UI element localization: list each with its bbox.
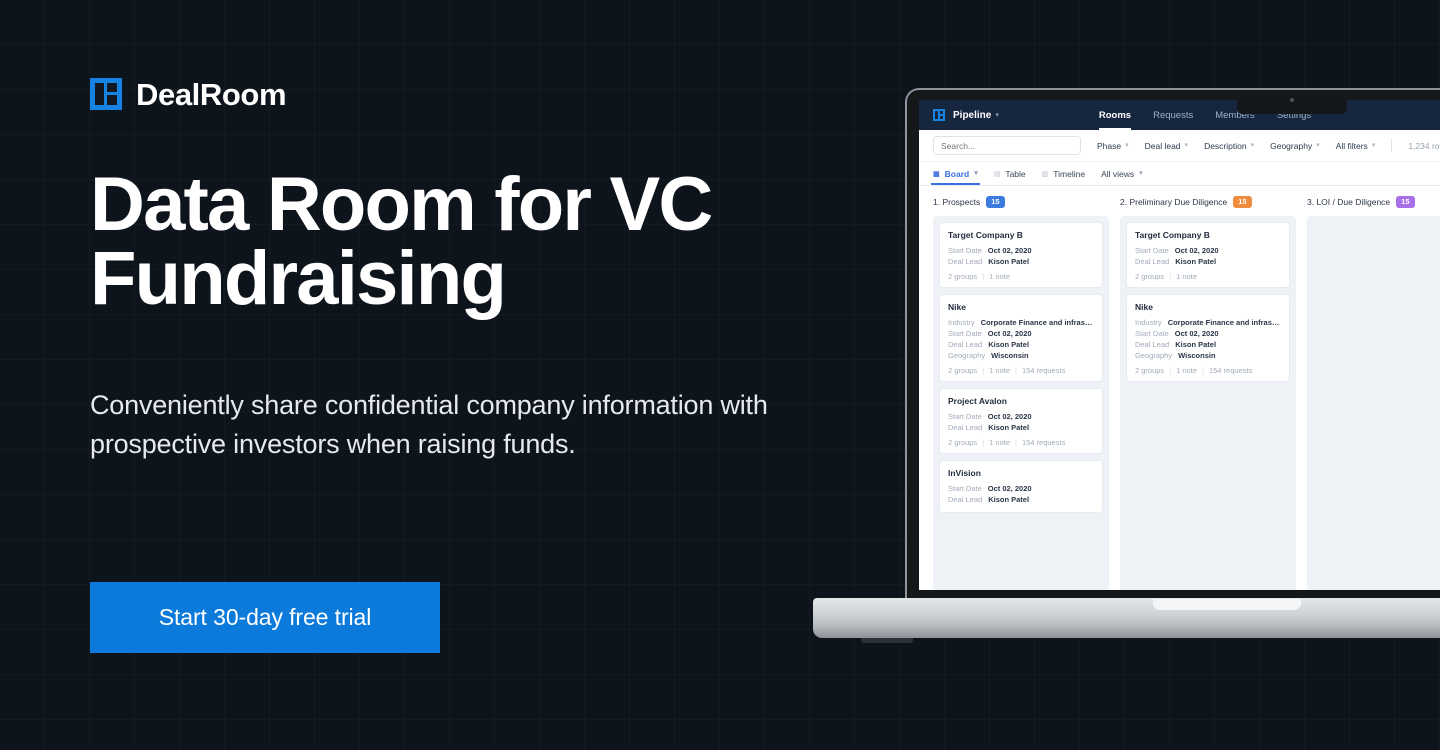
field-value: Wisconsin xyxy=(1178,351,1215,360)
deal-card-meta: 2 groups xyxy=(948,272,977,281)
deal-card-field: GeographyWisconsin xyxy=(948,351,1094,360)
deal-card-meta: 154 requests xyxy=(1022,438,1065,447)
deal-card-meta: 154 requests xyxy=(1022,366,1065,375)
field-label: Deal Lead xyxy=(948,257,982,266)
deal-card[interactable]: NikeIndustryCorporate Finance and infras… xyxy=(1126,294,1290,382)
tab-board[interactable]: ▦ Board ▾ xyxy=(933,162,978,185)
filter-deal-lead-label: Deal lead xyxy=(1145,141,1181,151)
field-label: Geography xyxy=(1135,351,1172,360)
brand-name: DealRoom xyxy=(136,79,286,110)
field-value: Oct 02, 2020 xyxy=(1175,246,1219,255)
deal-card-field: Start DateOct 02, 2020 xyxy=(1135,246,1281,255)
column-title: 3. LOI / Due Diligence xyxy=(1307,197,1390,207)
dealroom-logo-icon xyxy=(933,109,945,121)
laptop-lid: Pipeline ▾ Rooms Requests Members Settin… xyxy=(905,88,1440,598)
field-value: Oct 02, 2020 xyxy=(988,412,1032,421)
kanban-board: 1. Prospects15Target Company BStart Date… xyxy=(919,186,1440,590)
deal-card[interactable]: Project AvalonStart DateOct 02, 2020Deal… xyxy=(939,388,1103,454)
filter-description-label: Description xyxy=(1204,141,1247,151)
deal-card-field: Start DateOct 02, 2020 xyxy=(948,412,1094,421)
tab-board-label: Board xyxy=(945,169,970,179)
room-count: 1,234 rooms xyxy=(1408,141,1440,151)
field-label: Deal Lead xyxy=(1135,257,1169,266)
field-label: Start Date xyxy=(948,484,982,493)
deal-card-meta: 154 requests xyxy=(1209,366,1252,375)
hero-section: DealRoom Data Room for VC Fundraising Co… xyxy=(90,0,870,750)
column-card-list: Target Company BStart DateOct 02, 2020De… xyxy=(933,216,1109,590)
deal-card-title: Nike xyxy=(1135,302,1281,312)
filter-description[interactable]: Description ▾ xyxy=(1204,141,1254,151)
deal-card-title: Nike xyxy=(948,302,1094,312)
deal-card-field: Deal LeadKison Patel xyxy=(948,257,1094,266)
column-count-badge: 15 xyxy=(1233,196,1251,208)
dealroom-logo-icon xyxy=(90,78,122,110)
filter-bar: Phase ▾ Deal lead ▾ Description ▾ Geogra… xyxy=(919,130,1440,162)
deal-card-meta: 2 groups xyxy=(948,366,977,375)
chevron-down-icon: ▾ xyxy=(1139,170,1143,177)
tab-timeline-label: Timeline xyxy=(1053,169,1085,179)
deal-card-footer: 2 groups|1 note|154 requests xyxy=(948,366,1094,375)
column-count-badge: 15 xyxy=(986,196,1004,208)
deal-card-field: GeographyWisconsin xyxy=(1135,351,1281,360)
filter-deal-lead[interactable]: Deal lead ▾ xyxy=(1145,141,1188,151)
field-value: Kison Patel xyxy=(988,423,1029,432)
field-label: Deal Lead xyxy=(948,423,982,432)
field-value: Kison Patel xyxy=(1175,257,1216,266)
laptop-notch xyxy=(1237,90,1347,114)
filter-phase-label: Phase xyxy=(1097,141,1121,151)
field-label: Industry xyxy=(1135,318,1162,327)
tab-all-views[interactable]: All views ▾ xyxy=(1101,162,1143,185)
column-header: 1. Prospects15 xyxy=(933,195,1109,209)
chevron-down-icon: ▾ xyxy=(1251,142,1255,149)
field-label: Start Date xyxy=(1135,246,1169,255)
search-input[interactable] xyxy=(933,136,1081,155)
separator: | xyxy=(982,366,984,375)
deal-card-meta: 1 note xyxy=(989,366,1010,375)
column-count-badge: 15 xyxy=(1396,196,1414,208)
deal-card[interactable]: InVisionStart DateOct 02, 2020Deal LeadK… xyxy=(939,460,1103,513)
start-free-trial-button[interactable]: Start 30-day free trial xyxy=(90,582,440,653)
board-column: 1. Prospects15Target Company BStart Date… xyxy=(933,195,1109,590)
deal-card-field: IndustryCorporate Finance and infrastr..… xyxy=(948,318,1094,327)
field-label: Geography xyxy=(948,351,985,360)
column-title: 1. Prospects xyxy=(933,197,980,207)
deal-card-field: IndustryCorporate Finance and infrastr..… xyxy=(1135,318,1281,327)
filter-all-filters-label: All filters xyxy=(1336,141,1368,151)
filter-all-filters[interactable]: All filters ▾ xyxy=(1336,141,1376,151)
field-label: Start Date xyxy=(948,329,982,338)
laptop-base xyxy=(813,598,1440,638)
deal-card-title: Project Avalon xyxy=(948,396,1094,406)
tab-timeline[interactable]: ▥ Timeline xyxy=(1042,162,1085,185)
deal-card-field: Start DateOct 02, 2020 xyxy=(948,246,1094,255)
field-label: Start Date xyxy=(1135,329,1169,338)
deal-card-field: Start DateOct 02, 2020 xyxy=(948,484,1094,493)
table-icon: ▤ xyxy=(994,170,1001,178)
field-value: Corporate Finance and infrastr... xyxy=(981,318,1094,327)
chevron-down-icon: ▾ xyxy=(1316,142,1320,149)
field-value: Oct 02, 2020 xyxy=(988,484,1032,493)
deal-card-meta: 1 note xyxy=(989,272,1010,281)
field-value: Kison Patel xyxy=(988,257,1029,266)
separator: | xyxy=(1169,272,1171,281)
deal-card-field: Start DateOct 02, 2020 xyxy=(1135,329,1281,338)
divider xyxy=(1391,139,1392,152)
field-label: Start Date xyxy=(948,246,982,255)
board-icon: ▦ xyxy=(933,170,940,178)
deal-card-meta: 2 groups xyxy=(1135,272,1164,281)
deal-card-field: Deal LeadKison Patel xyxy=(948,495,1094,504)
field-value: Oct 02, 2020 xyxy=(988,246,1032,255)
deal-card[interactable]: NikeIndustryCorporate Finance and infras… xyxy=(939,294,1103,382)
page-subheading: Conveniently share confidential company … xyxy=(90,386,850,464)
column-card-list xyxy=(1307,216,1440,590)
app-topbar: Pipeline ▾ Rooms Requests Members Settin… xyxy=(919,100,1440,130)
deal-card[interactable]: Target Company BStart DateOct 02, 2020De… xyxy=(1126,222,1290,288)
tab-all-views-label: All views xyxy=(1101,169,1134,179)
deal-card-meta: 1 note xyxy=(1176,272,1197,281)
chevron-down-icon[interactable]: ▾ xyxy=(995,112,999,119)
separator: | xyxy=(982,272,984,281)
filter-phase[interactable]: Phase ▾ xyxy=(1097,141,1129,151)
separator: | xyxy=(1169,366,1171,375)
deal-card-meta: 1 note xyxy=(989,438,1010,447)
field-label: Deal Lead xyxy=(948,495,982,504)
board-column: 3. LOI / Due Diligence15 xyxy=(1307,195,1440,590)
deal-card-footer: 2 groups|1 note|154 requests xyxy=(948,438,1094,447)
field-value: Kison Patel xyxy=(988,495,1029,504)
separator: | xyxy=(1015,438,1017,447)
deal-card-title: InVision xyxy=(948,468,1094,478)
views-bar: ▦ Board ▾ ▤ Table ▥ Timeline All views ▾ xyxy=(919,162,1440,186)
deal-card-meta: 2 groups xyxy=(1135,366,1164,375)
field-value: Kison Patel xyxy=(988,340,1029,349)
page-title: Data Room for VC Fundraising xyxy=(90,168,810,317)
app-nav-requests[interactable]: Requests xyxy=(1153,100,1193,130)
filter-geography-label: Geography xyxy=(1270,141,1312,151)
deal-card-field: Start DateOct 02, 2020 xyxy=(948,329,1094,338)
timeline-icon: ▥ xyxy=(1042,170,1049,178)
tab-table[interactable]: ▤ Table xyxy=(994,162,1026,185)
chevron-down-icon: ▾ xyxy=(974,170,978,177)
deal-card-meta: 2 groups xyxy=(948,438,977,447)
deal-card-field: Deal LeadKison Patel xyxy=(1135,340,1281,349)
deal-card-footer: 2 groups|1 note|154 requests xyxy=(1135,366,1281,375)
workspace-name[interactable]: Pipeline xyxy=(953,110,991,121)
filter-geography[interactable]: Geography ▾ xyxy=(1270,141,1320,151)
deal-card-title: Target Company B xyxy=(948,230,1094,240)
app-screenshot: Pipeline ▾ Rooms Requests Members Settin… xyxy=(919,100,1440,590)
field-label: Deal Lead xyxy=(1135,340,1169,349)
column-header: 2. Preliminary Due Diligence15 xyxy=(1120,195,1296,209)
column-card-list: Target Company BStart DateOct 02, 2020De… xyxy=(1120,216,1296,590)
field-value: Wisconsin xyxy=(991,351,1028,360)
tab-table-label: Table xyxy=(1005,169,1025,179)
app-nav-rooms[interactable]: Rooms xyxy=(1099,100,1131,130)
field-label: Deal Lead xyxy=(948,340,982,349)
deal-card-footer: 2 groups|1 note xyxy=(948,272,1094,281)
deal-card-field: Deal LeadKison Patel xyxy=(1135,257,1281,266)
deal-card-field: Deal LeadKison Patel xyxy=(948,340,1094,349)
camera-icon xyxy=(1290,98,1294,102)
deal-card[interactable]: Target Company BStart DateOct 02, 2020De… xyxy=(939,222,1103,288)
brand-logo: DealRoom xyxy=(90,78,286,110)
field-value: Oct 02, 2020 xyxy=(988,329,1032,338)
deal-card-title: Target Company B xyxy=(1135,230,1281,240)
field-value: Oct 02, 2020 xyxy=(1175,329,1219,338)
field-value: Kison Patel xyxy=(1175,340,1216,349)
field-label: Industry xyxy=(948,318,975,327)
separator: | xyxy=(1015,366,1017,375)
field-value: Corporate Finance and infrastr... xyxy=(1168,318,1281,327)
deal-card-meta: 1 note xyxy=(1176,366,1197,375)
laptop-grip-notch xyxy=(1153,599,1301,610)
chevron-down-icon: ▾ xyxy=(1372,142,1376,149)
chevron-down-icon: ▾ xyxy=(1185,142,1189,149)
column-header: 3. LOI / Due Diligence15 xyxy=(1307,195,1440,209)
separator: | xyxy=(982,438,984,447)
field-label: Start Date xyxy=(948,412,982,421)
deal-card-field: Deal LeadKison Patel xyxy=(948,423,1094,432)
board-column: 2. Preliminary Due Diligence15Target Com… xyxy=(1120,195,1296,590)
chevron-down-icon: ▾ xyxy=(1125,142,1129,149)
column-title: 2. Preliminary Due Diligence xyxy=(1120,197,1227,207)
laptop-mockup: Pipeline ▾ Rooms Requests Members Settin… xyxy=(905,88,1440,598)
deal-card-footer: 2 groups|1 note xyxy=(1135,272,1281,281)
separator: | xyxy=(1202,366,1204,375)
